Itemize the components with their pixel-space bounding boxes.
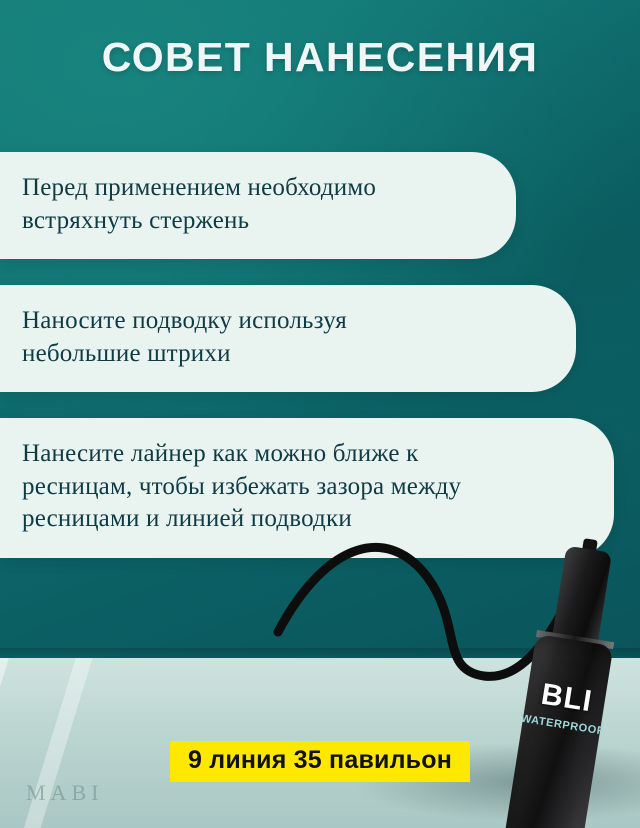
tip-3-line-1: Нанесите лайнер как можно ближе к <box>22 438 584 471</box>
poster-canvas: СОВЕТ НАНЕСЕНИЯ Перед применением необхо… <box>0 0 640 828</box>
tip-3-line-2: ресницам, чтобы избежать зазора между <box>22 471 584 504</box>
location-banner: 9 линия 35 павильон <box>170 741 470 782</box>
tip-1-line-1: Перед применением необходимо <box>22 172 486 205</box>
tip-card-2: Наносите подводку используя небольшие шт… <box>0 285 576 392</box>
tip-card-1: Перед применением необходимо встряхнуть … <box>0 152 516 259</box>
tip-1-line-2: встряхнуть стержень <box>22 205 486 238</box>
tip-2-line-1: Наносите подводку используя <box>22 305 546 338</box>
page-title: СОВЕТ НАНЕСЕНИЯ <box>0 34 640 81</box>
watermark-logo: MABI <box>26 780 103 806</box>
tip-2-line-2: небольшие штрихи <box>22 338 546 371</box>
tips-list: Перед применением необходимо встряхнуть … <box>0 152 640 584</box>
